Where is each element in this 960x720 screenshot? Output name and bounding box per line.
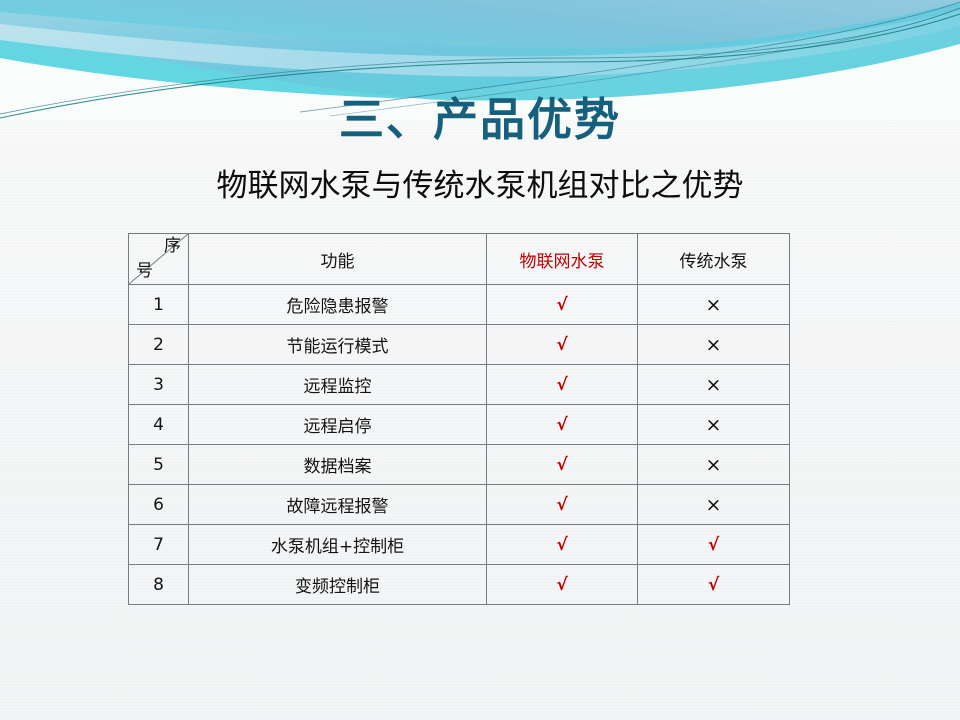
row-index: 2 [153,335,164,355]
slide-subtitle: 物联网水泵与传统水泵机组对比之优势 [0,165,960,207]
cell-index: 1 [129,285,189,325]
traditional-cross-icon: × [706,454,722,476]
row-function: 故障远程报警 [287,492,389,517]
cell-function: 变频控制柜 [189,565,487,605]
cell-iot-mark: √ [487,525,638,565]
traditional-check-icon: √ [708,575,719,595]
cell-index: 6 [129,485,189,525]
cell-index: 8 [129,565,189,605]
table-row: 4 远程启停 √ × [129,405,790,445]
row-function: 节能运行模式 [287,332,389,357]
row-function: 远程监控 [304,372,372,397]
cell-iot-mark: √ [487,565,638,605]
comparison-table: 序 号 功能 物联网水泵 传统水泵 1 [128,233,790,605]
cell-function: 水泵机组+控制柜 [189,525,487,565]
row-index: 1 [153,295,164,315]
iot-check-icon: √ [556,495,567,515]
cell-traditional-mark: × [638,485,790,525]
header-index-bottom-label: 号 [136,260,153,282]
cell-function: 远程监控 [189,365,487,405]
iot-check-icon: √ [556,295,567,315]
cell-iot-mark: √ [487,405,638,445]
header-cell-function: 功能 [189,234,487,285]
table-row: 3 远程监控 √ × [129,365,790,405]
cell-function: 数据档案 [189,445,487,485]
cell-iot-mark: √ [487,485,638,525]
table-row: 1 危险隐患报警 √ × [129,285,790,325]
header-traditional-pump-label: 传统水泵 [680,247,748,272]
cell-traditional-mark: √ [638,525,790,565]
cell-iot-mark: √ [487,325,638,365]
slide-canvas: 三、产品优势 物联网水泵与传统水泵机组对比之优势 [0,0,960,720]
cell-iot-mark: √ [487,445,638,485]
cell-traditional-mark: × [638,325,790,365]
row-index: 6 [153,495,164,515]
cell-iot-mark: √ [487,365,638,405]
traditional-cross-icon: × [706,334,722,356]
cell-index: 4 [129,405,189,445]
cell-iot-mark: √ [487,285,638,325]
cell-index: 5 [129,445,189,485]
row-index: 3 [153,375,164,395]
row-function: 变频控制柜 [295,572,380,597]
cell-function: 危险隐患报警 [189,285,487,325]
cell-function: 远程启停 [189,405,487,445]
traditional-cross-icon: × [706,494,722,516]
table-row: 7 水泵机组+控制柜 √ √ [129,525,790,565]
slide-title: 三、产品优势 [0,92,960,148]
table-row: 5 数据档案 √ × [129,445,790,485]
table-row: 8 变频控制柜 √ √ [129,565,790,605]
cell-index: 2 [129,325,189,365]
iot-check-icon: √ [556,335,567,355]
traditional-cross-icon: × [706,374,722,396]
row-index: 4 [153,415,164,435]
cell-function: 节能运行模式 [189,325,487,365]
traditional-cross-icon: × [706,294,722,316]
cell-traditional-mark: × [638,365,790,405]
row-function: 危险隐患报警 [287,292,389,317]
cell-traditional-mark: × [638,405,790,445]
row-index: 7 [153,535,164,555]
iot-check-icon: √ [556,375,567,395]
traditional-check-icon: √ [708,535,719,555]
row-index: 5 [153,455,164,475]
row-function: 水泵机组+控制柜 [271,532,404,557]
row-function: 远程启停 [304,412,372,437]
header-cell-traditional-pump: 传统水泵 [638,234,790,285]
iot-check-icon: √ [556,415,567,435]
table-header-row: 序 号 功能 物联网水泵 传统水泵 [129,234,790,285]
header-function-label: 功能 [321,247,355,272]
header-cell-iot-pump: 物联网水泵 [487,234,638,285]
row-function: 数据档案 [304,452,372,477]
cell-traditional-mark: × [638,285,790,325]
cell-function: 故障远程报警 [189,485,487,525]
traditional-cross-icon: × [706,414,722,436]
iot-check-icon: √ [556,455,567,475]
comparison-table-container: 序 号 功能 物联网水泵 传统水泵 1 [128,233,789,605]
header-iot-pump-label: 物联网水泵 [520,247,605,272]
row-index: 8 [153,575,164,595]
table-row: 2 节能运行模式 √ × [129,325,790,365]
cell-index: 3 [129,365,189,405]
iot-check-icon: √ [556,575,567,595]
header-index-top-label: 序 [164,235,181,257]
cell-traditional-mark: × [638,445,790,485]
table-row: 6 故障远程报警 √ × [129,485,790,525]
header-cell-index: 序 号 [129,234,189,285]
iot-check-icon: √ [556,535,567,555]
cell-traditional-mark: √ [638,565,790,605]
cell-index: 7 [129,525,189,565]
